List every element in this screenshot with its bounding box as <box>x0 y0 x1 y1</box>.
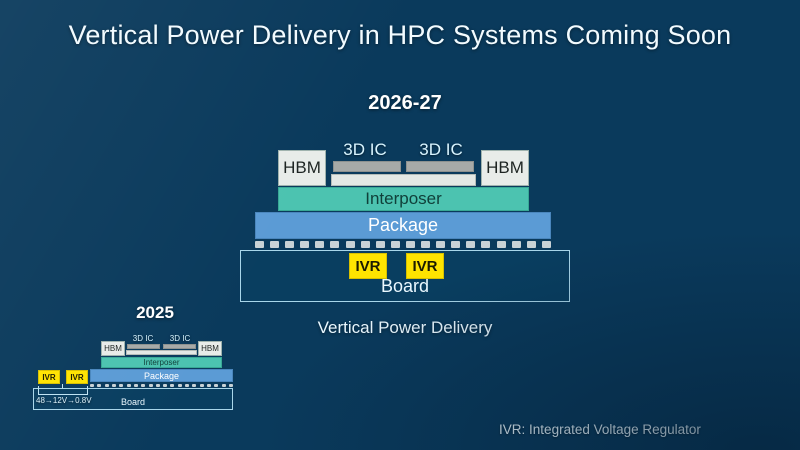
mini-hbm-left: HBM <box>101 341 125 356</box>
voltage-chain-label: 48→12V→0.8V <box>36 396 92 405</box>
main-year-label: 2026-27 <box>300 92 510 115</box>
package-block: Package <box>255 212 551 239</box>
die-label-1: 3D IC <box>333 140 397 160</box>
board-label: Board <box>381 276 429 297</box>
slide-canvas: Vertical Power Delivery in HPC Systems C… <box>0 0 800 450</box>
mini-die-label-1: 3D IC <box>126 333 160 343</box>
mini-board-label: Board <box>121 397 145 407</box>
die-label-2: 3D IC <box>409 140 473 160</box>
mini-ivr-2: IVR <box>66 370 88 384</box>
mini-die-top-1 <box>127 344 160 349</box>
hbm-right: HBM <box>481 150 529 186</box>
mini-interposer-block: Interposer <box>101 357 222 368</box>
diagram-caption: Vertical Power Delivery <box>250 318 560 338</box>
board-block: Board <box>240 250 570 302</box>
die-top-1 <box>333 161 401 172</box>
voltage-bracket-stem <box>62 384 63 388</box>
mini-die-base <box>126 350 197 355</box>
ivr-main-1: IVR <box>349 253 387 279</box>
mini-ivr-1: IVR <box>38 370 60 384</box>
die-base <box>331 174 476 186</box>
interposer-block: Interposer <box>278 187 529 211</box>
ivr-footnote: IVR: Integrated Voltage Regulator <box>430 422 770 437</box>
mini-package-block: Package <box>90 369 233 382</box>
mini-die-top-2 <box>163 344 196 349</box>
hbm-left: HBM <box>278 150 326 186</box>
solder-ball-row <box>255 240 551 248</box>
mini-year-label: 2025 <box>105 303 205 323</box>
ivr-main-2: IVR <box>406 253 444 279</box>
slide-title: Vertical Power Delivery in HPC Systems C… <box>0 20 800 51</box>
mini-solder-ball-row <box>90 383 233 387</box>
die-top-2 <box>406 161 474 172</box>
mini-die-label-2: 3D IC <box>163 333 197 343</box>
voltage-bracket <box>38 386 88 395</box>
mini-hbm-right: HBM <box>198 341 222 356</box>
